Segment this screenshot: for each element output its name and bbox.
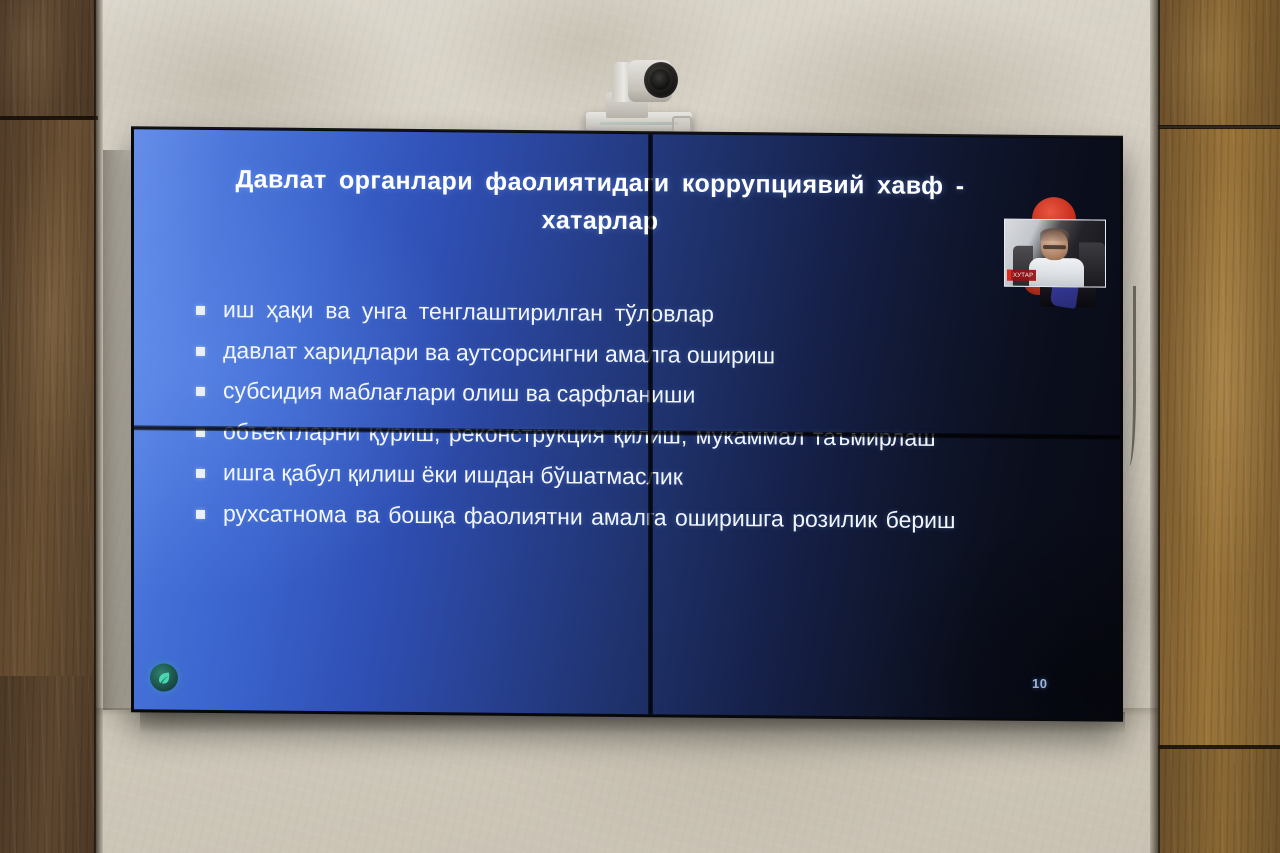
presentation-slide: Давлат органлари фаолиятидаги коррупцияв… (134, 129, 1120, 718)
list-item: субсидия маблағлари олиш ва сарфланиши (196, 375, 1086, 415)
list-item-text: иш ҳақи ва унга тенглаштирилган тўловлар (223, 294, 714, 330)
slide-title: Давлат органлари фаолиятидаги коррупцияв… (230, 160, 970, 243)
bullet-square-icon (196, 347, 205, 356)
bullet-square-icon (196, 387, 205, 396)
pip-caption-text: ХУТАР (1013, 272, 1033, 278)
bullet-square-icon (196, 510, 205, 519)
list-item-text: субсидия маблағлари олиш ва сарфланиши (223, 376, 695, 412)
wood-panel-left-main (0, 118, 96, 678)
wood-panel-right-bottom (1158, 748, 1280, 853)
camera-mount-led-strip (600, 122, 678, 125)
wood-panel-left-bottom (0, 676, 96, 853)
list-item-text: ишга қабул қилиш ёки ишдан бўшатмаслик (223, 457, 683, 493)
list-item: рухсатнома ва бошқа фаолиятни амалга оши… (196, 498, 1086, 538)
wood-seam-right-bottom (1158, 745, 1280, 749)
wood-edge-right (1150, 0, 1160, 853)
slide-page-number: 10 (1032, 676, 1047, 691)
slide-bullet-list: иш ҳақи ва унга тенглаштирилган тўловлар… (196, 294, 1086, 547)
list-item: ишга қабул қилиш ёки ишдан бўшатмаслик (196, 457, 1086, 497)
pip-name-caption: ХУТАР (1007, 270, 1036, 281)
wood-seam-right-top (1158, 125, 1280, 129)
camera-lens-inner-ring (650, 69, 670, 90)
pip-caption-accent-bar (1007, 270, 1011, 281)
wood-panel-right-main (1158, 128, 1280, 748)
conference-room-scene: Давлат органлари фаолиятидаги коррупцияв… (0, 0, 1280, 853)
leaf-emblem-icon (150, 663, 178, 691)
pip-video-frame: ХУТАР (1004, 219, 1106, 288)
video-wall-seam-vertical (648, 134, 653, 714)
wood-seam-left (0, 116, 98, 120)
list-item: давлат харидлари ва аутсорсингни амалга … (196, 335, 1086, 375)
wood-panel-left-top (0, 0, 96, 118)
list-item: иш ҳақи ва унга тенглаштирилган тўловлар (196, 294, 1086, 334)
bullet-square-icon (196, 306, 205, 315)
pip-person-glasses-icon (1043, 245, 1066, 249)
wood-panel-right-top (1158, 0, 1280, 126)
display-screen: Давлат органлари фаолиятидаги коррупцияв… (134, 129, 1120, 718)
pip-video-window[interactable]: ХУТАР (996, 203, 1108, 304)
list-item-text: давлат харидлари ва аутсорсингни амалга … (223, 335, 775, 372)
video-wall-display[interactable]: Давлат органлари фаолиятидаги коррупцияв… (131, 126, 1123, 722)
pip-person-hair (1040, 228, 1069, 241)
list-item-text: рухсатнома ва бошқа фаолиятни амалга оши… (223, 498, 955, 537)
bullet-square-icon (196, 469, 205, 478)
wood-edge-left (94, 0, 103, 853)
pip-person-body (1029, 258, 1084, 288)
